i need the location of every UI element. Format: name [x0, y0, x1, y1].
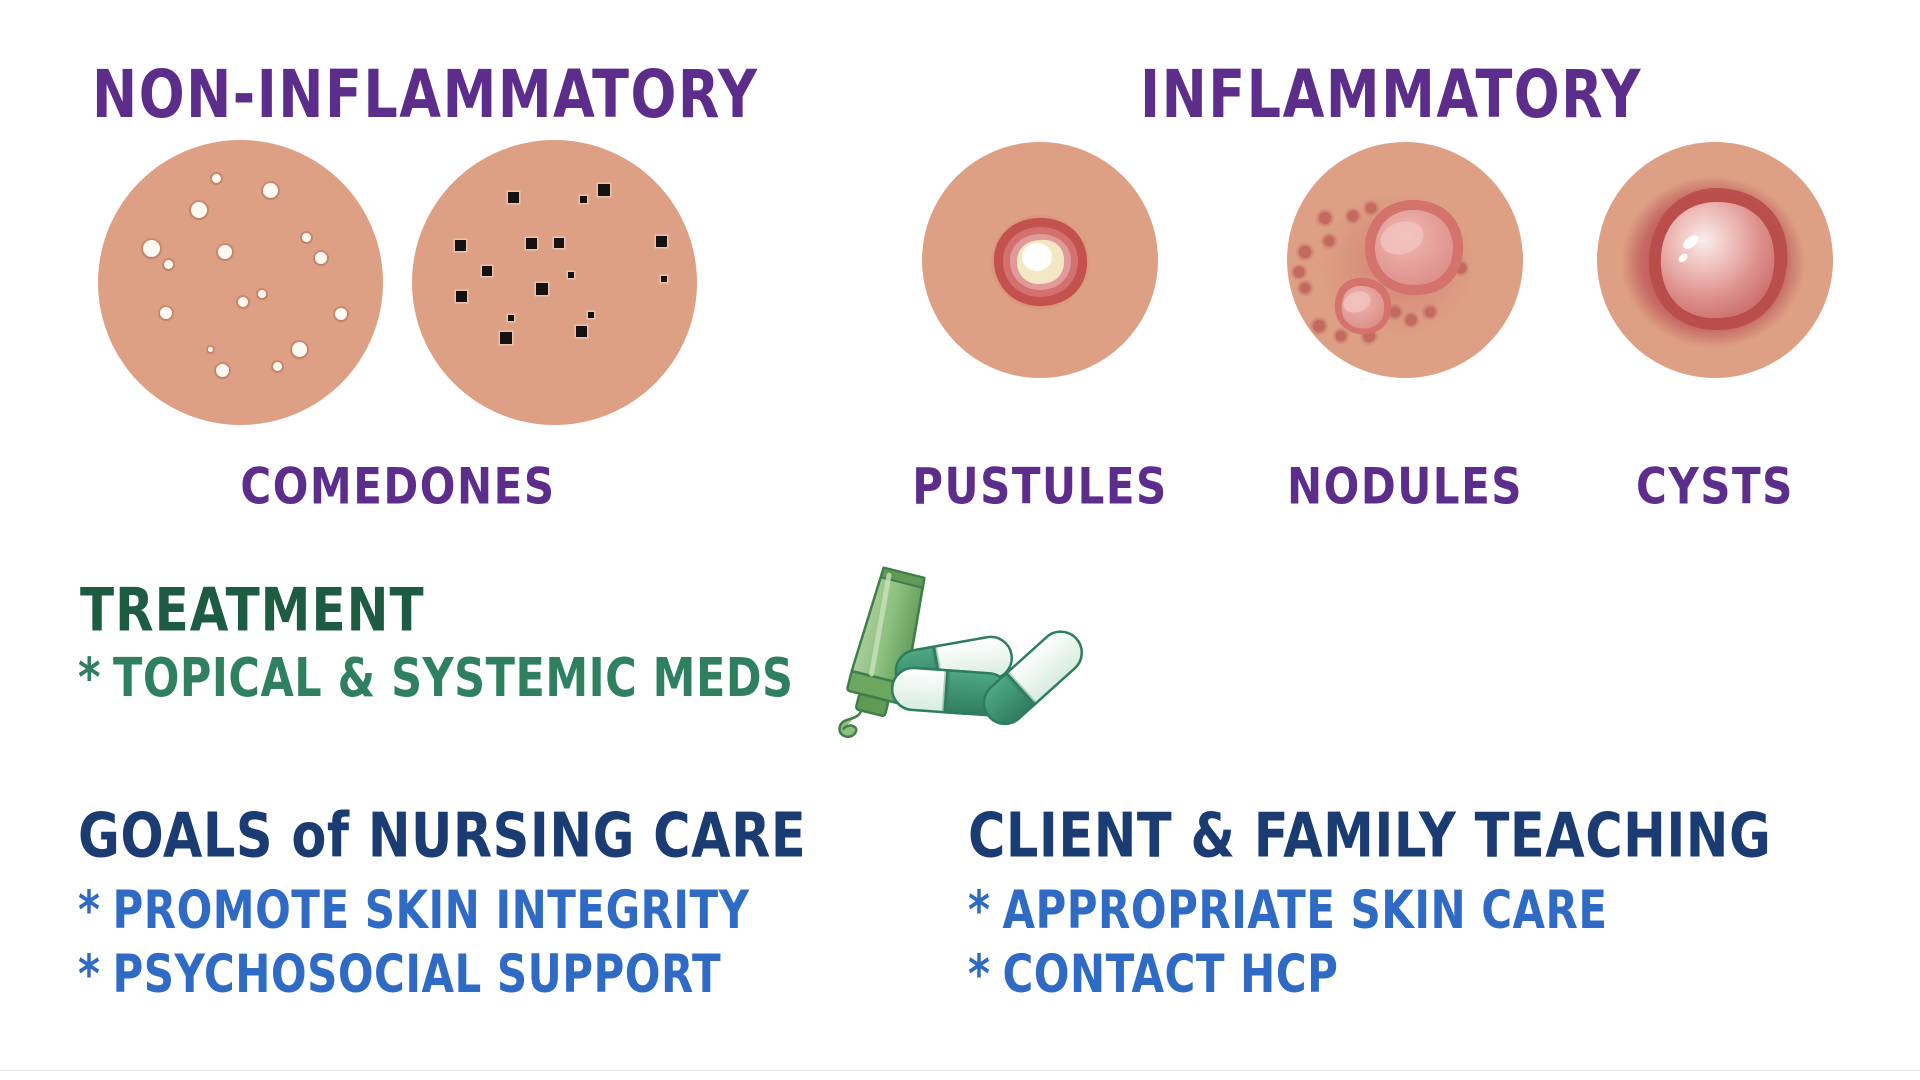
- medication-illustration: [812, 562, 1112, 752]
- client-family-teaching-heading: CLIENT & FAMILY TEACHING: [968, 806, 1771, 867]
- skin-circle-whiteheads: [98, 140, 383, 425]
- skin-circle-pustules: [920, 140, 1160, 380]
- goals-heading-part1: GOALS: [78, 801, 273, 872]
- bullet-star-icon: *: [78, 652, 101, 706]
- whitehead-lesion: [335, 308, 347, 320]
- goals-bullet-item: *PSYCHOSOCIAL SUPPORT: [78, 948, 721, 1001]
- goals-bullet-text: PSYCHOSOCIAL SUPPORT: [112, 943, 721, 1004]
- category-heading-inflammatory: INFLAMMATORY: [1140, 62, 1642, 128]
- blackhead-lesion: [536, 283, 548, 295]
- blackhead-lesion: [576, 326, 587, 337]
- whitehead-lesion: [263, 183, 278, 198]
- blackhead-lesion: [456, 291, 467, 302]
- infographic-canvas: NON-INFLAMMATORY INFLAMMATORY: [0, 0, 1920, 1080]
- blackhead-lesion: [588, 312, 594, 318]
- lesion-label-comedones: COMEDONES: [198, 462, 598, 512]
- whitehead-lesion: [216, 364, 229, 377]
- skin-circle-blackheads: [412, 140, 697, 425]
- blackhead-lesion: [580, 196, 587, 203]
- goals-heading-part3: NURSING CARE: [368, 801, 806, 872]
- whitehead-lesion: [218, 245, 232, 259]
- whitehead-lesion: [302, 233, 311, 242]
- goals-bullet-item: *PROMOTE SKIN INTEGRITY: [78, 884, 750, 937]
- blackhead-lesion: [661, 276, 667, 282]
- blackhead-lesion: [526, 238, 537, 249]
- blackhead-lesion: [598, 184, 610, 196]
- skin-circle-nodules: [1285, 140, 1525, 380]
- whitehead-lesion: [212, 174, 221, 183]
- treatment-bullet-text: TOPICAL & SYSTEMIC MEDS: [113, 647, 794, 710]
- bullet-star-icon: *: [78, 948, 100, 1001]
- category-heading-non-inflammatory: NON-INFLAMMATORY: [92, 62, 759, 128]
- blackhead-lesion: [508, 315, 514, 321]
- whitehead-lesion: [238, 297, 248, 307]
- teaching-bullet-text: CONTACT HCP: [1002, 943, 1338, 1004]
- goals-heading-part2: of: [291, 801, 349, 872]
- teaching-bullet-item: *APPROPRIATE SKIN CARE: [968, 884, 1608, 937]
- treatment-heading: TREATMENT: [80, 580, 425, 640]
- blackhead-lesion: [508, 192, 519, 203]
- bullet-star-icon: *: [968, 884, 990, 937]
- whitehead-lesion: [143, 240, 160, 257]
- whitehead-lesion: [208, 347, 213, 352]
- goals-heading: GOALS of NURSING CARE: [78, 806, 806, 867]
- whitehead-lesion: [258, 290, 266, 298]
- goals-bullet-text: PROMOTE SKIN INTEGRITY: [112, 879, 749, 940]
- lesion-label-pustules: PUSTULES: [840, 462, 1240, 512]
- whitehead-lesion: [292, 342, 307, 357]
- whitehead-lesion: [273, 362, 282, 371]
- blackhead-lesion: [500, 332, 512, 344]
- skin-circle-cysts: [1595, 140, 1835, 380]
- whitehead-lesion: [164, 260, 173, 269]
- whitehead-lesion: [191, 202, 207, 218]
- blackhead-lesion: [455, 240, 466, 251]
- bottom-divider: [0, 1070, 1920, 1071]
- whitehead-lesion: [315, 252, 327, 264]
- bullet-star-icon: *: [968, 948, 990, 1001]
- teaching-bullet-item: *CONTACT HCP: [968, 948, 1338, 1001]
- teaching-bullet-text: APPROPRIATE SKIN CARE: [1002, 879, 1607, 940]
- treatment-bullet-item: *TOPICAL & SYSTEMIC MEDS: [78, 652, 794, 706]
- blackhead-lesion: [568, 272, 574, 278]
- bullet-star-icon: *: [78, 884, 100, 937]
- lesion-label-cysts: CYSTS: [1515, 462, 1915, 512]
- blackhead-lesion: [656, 236, 667, 247]
- blackhead-lesion: [482, 266, 492, 276]
- blackhead-lesion: [554, 238, 564, 248]
- whitehead-lesion: [160, 307, 172, 319]
